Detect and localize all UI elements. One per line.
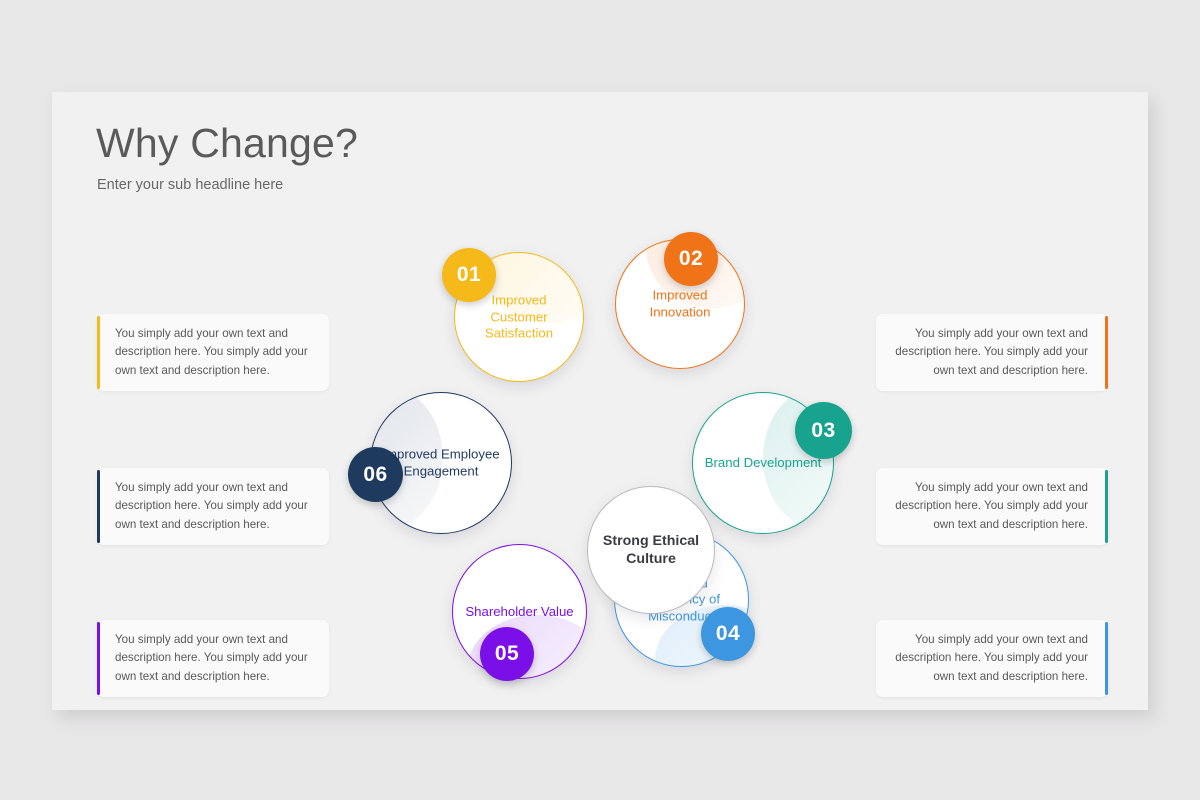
card-accent-bar [1105, 470, 1108, 543]
node-03-number-badge[interactable]: 03 [795, 402, 852, 459]
card-accent-bar [1105, 622, 1108, 695]
node-05-label: Shareholder Value [453, 603, 586, 620]
center-label: Strong Ethical Culture [588, 532, 714, 568]
page-subtitle: Enter your sub headline here [97, 177, 283, 193]
card-text: You simply add your own text and descrip… [876, 631, 1108, 687]
card-accent-bar [97, 316, 100, 389]
node-01-number-badge[interactable]: 01 [442, 248, 496, 302]
card-text: You simply add your own text and descrip… [97, 631, 329, 687]
center-bubble[interactable]: Strong Ethical Culture [587, 486, 715, 614]
node-04-number-badge[interactable]: 04 [701, 607, 755, 661]
card-text: You simply add your own text and descrip… [876, 479, 1108, 535]
node-02-number-badge[interactable]: 02 [664, 232, 718, 286]
card-text: You simply add your own text and descrip… [97, 325, 329, 381]
node-03-label: Brand Development [693, 455, 833, 472]
node-06-number-badge[interactable]: 06 [348, 447, 403, 502]
node-05-number-badge[interactable]: 05 [480, 627, 534, 681]
slide-canvas: Why Change? Enter your sub headline here… [52, 92, 1148, 710]
description-card-right-2[interactable]: You simply add your own text and descrip… [876, 468, 1108, 545]
description-card-right-1[interactable]: You simply add your own text and descrip… [876, 314, 1108, 391]
description-card-right-3[interactable]: You simply add your own text and descrip… [876, 620, 1108, 697]
card-accent-bar [97, 470, 100, 543]
page-title: Why Change? [96, 120, 358, 167]
card-accent-bar [1105, 316, 1108, 389]
description-card-left-2[interactable]: You simply add your own text and descrip… [97, 468, 329, 545]
node-02-label: Improved Innovation [616, 288, 744, 321]
card-accent-bar [97, 622, 100, 695]
description-card-left-1[interactable]: You simply add your own text and descrip… [97, 314, 329, 391]
card-text: You simply add your own text and descrip… [97, 479, 329, 535]
description-card-left-3[interactable]: You simply add your own text and descrip… [97, 620, 329, 697]
card-text: You simply add your own text and descrip… [876, 325, 1108, 381]
